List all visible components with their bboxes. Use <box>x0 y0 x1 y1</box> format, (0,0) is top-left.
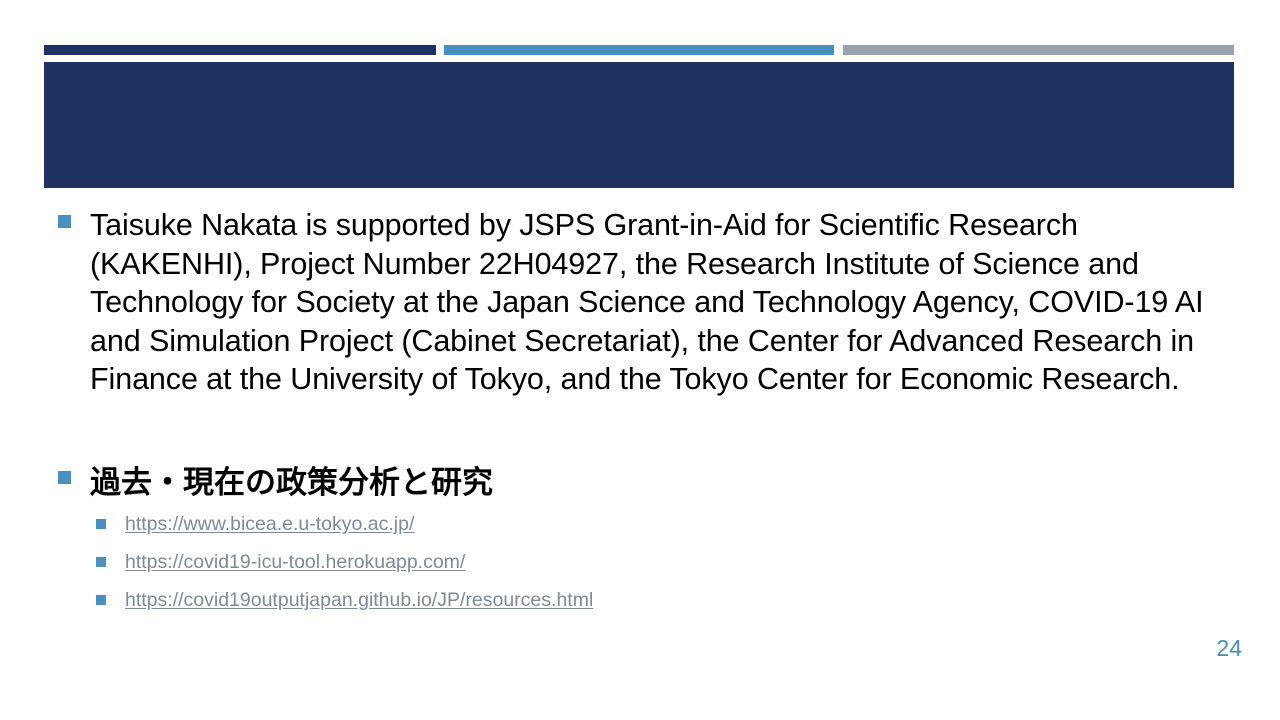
square-bullet-icon <box>96 557 106 567</box>
top-rule-gray <box>843 45 1234 55</box>
bullet-list-level1: Taisuke Nakata is supported by JSPS Gran… <box>44 206 1234 613</box>
link-covid19-icu-tool[interactable]: https://covid19-icu-tool.herokuapp.com/ <box>125 551 465 573</box>
square-bullet-icon <box>96 595 106 605</box>
top-rule-blue <box>444 45 834 55</box>
top-rule-group <box>44 45 1234 55</box>
square-bullet-icon <box>58 471 71 484</box>
square-bullet-icon <box>58 215 71 228</box>
bullet-item-acknowledgement: Taisuke Nakata is supported by JSPS Gran… <box>44 206 1234 399</box>
section-heading-text: 過去・現在の政策分析と研究 <box>90 463 1234 503</box>
square-bullet-icon <box>96 519 106 529</box>
list-item: https://covid19outputjapan.github.io/JP/… <box>90 589 1234 613</box>
slide-content: Taisuke Nakata is supported by JSPS Gran… <box>44 206 1234 676</box>
link-list: https://www.bicea.e.u-tokyo.ac.jp/ https… <box>90 513 1234 613</box>
link-bicea[interactable]: https://www.bicea.e.u-tokyo.ac.jp/ <box>125 513 414 535</box>
slide-canvas: { "theme": { "navy": "#1d3260", "blue": … <box>0 0 1280 720</box>
acknowledgement-text: Taisuke Nakata is supported by JSPS Gran… <box>90 206 1234 399</box>
link-covid19outputjapan[interactable]: https://covid19outputjapan.github.io/JP/… <box>125 589 593 611</box>
slide-title-banner <box>44 62 1234 188</box>
page-number: 24 <box>1216 635 1242 662</box>
top-rule-navy <box>44 45 436 55</box>
list-item: https://www.bicea.e.u-tokyo.ac.jp/ <box>90 513 1234 537</box>
vertical-spacer <box>44 399 1234 463</box>
list-item: https://covid19-icu-tool.herokuapp.com/ <box>90 551 1234 575</box>
bullet-item-section-heading: 過去・現在の政策分析と研究 https://www.bicea.e.u-toky… <box>44 463 1234 613</box>
